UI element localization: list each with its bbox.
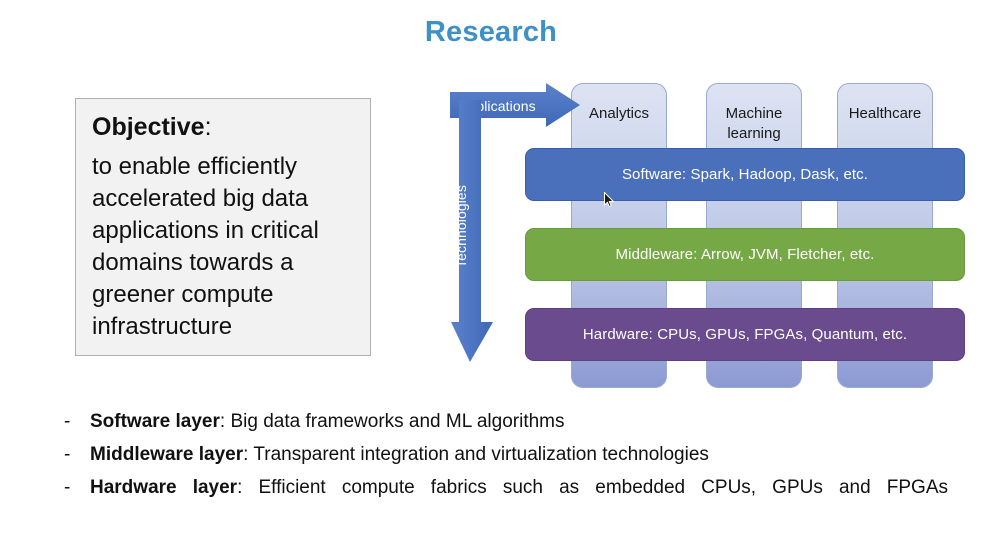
objective-colon: : xyxy=(205,113,212,141)
objective-body-text: to enable efficiently accelerated big da… xyxy=(92,151,354,343)
domain-column-label: Healthcare xyxy=(838,104,932,124)
objective-label: Objective xyxy=(92,113,205,141)
bullet-marker: - xyxy=(64,474,90,502)
objective-box: Objective: to enable efficiently acceler… xyxy=(75,98,371,356)
bullet-marker: - xyxy=(64,408,90,436)
bullet-rest-text: : Transparent integration and virtualiza… xyxy=(243,444,709,465)
page-title: Research xyxy=(0,16,982,49)
bullet-marker: - xyxy=(64,441,90,469)
research-stack-diagram: Analytics Machinelearning Healthcare App… xyxy=(440,70,980,400)
list-item: - Hardware layer: Efficient compute fabr… xyxy=(64,474,948,530)
layer-bar-software: Software: Spark, Hadoop, Dask, etc. xyxy=(525,148,965,201)
list-item: - Software layer: Big data frameworks an… xyxy=(64,408,948,436)
mouse-pointer-icon xyxy=(604,192,615,208)
bullet-text: Software layer: Big data frameworks and … xyxy=(90,408,948,436)
list-item: - Middleware layer: Transparent integrat… xyxy=(64,441,948,469)
bullet-text: Hardware layer: Efficient compute fabric… xyxy=(90,474,948,530)
technologies-arrow-label: Technologies xyxy=(453,188,469,268)
bullet-strong-label: Middleware layer xyxy=(90,444,243,465)
bullet-strong-label: Software layer xyxy=(90,411,220,432)
domain-column-label: Machinelearning xyxy=(707,104,801,144)
bullet-text: Middleware layer: Transparent integratio… xyxy=(90,441,948,469)
layer-bar-hardware: Hardware: CPUs, GPUs, FPGAs, Quantum, et… xyxy=(525,308,965,361)
objective-heading: Objective: xyxy=(92,112,354,142)
bullet-rest-text: : Big data frameworks and ML algorithms xyxy=(220,411,565,432)
bullet-list: - Software layer: Big data frameworks an… xyxy=(64,408,948,535)
domain-column-label: Analytics xyxy=(572,104,666,124)
layer-bar-middleware: Middleware: Arrow, JVM, Fletcher, etc. xyxy=(525,228,965,281)
bullet-strong-label: Hardware layer xyxy=(90,477,237,498)
bullet-rest-text: : Efficient compute fabrics such as embe… xyxy=(237,477,948,498)
